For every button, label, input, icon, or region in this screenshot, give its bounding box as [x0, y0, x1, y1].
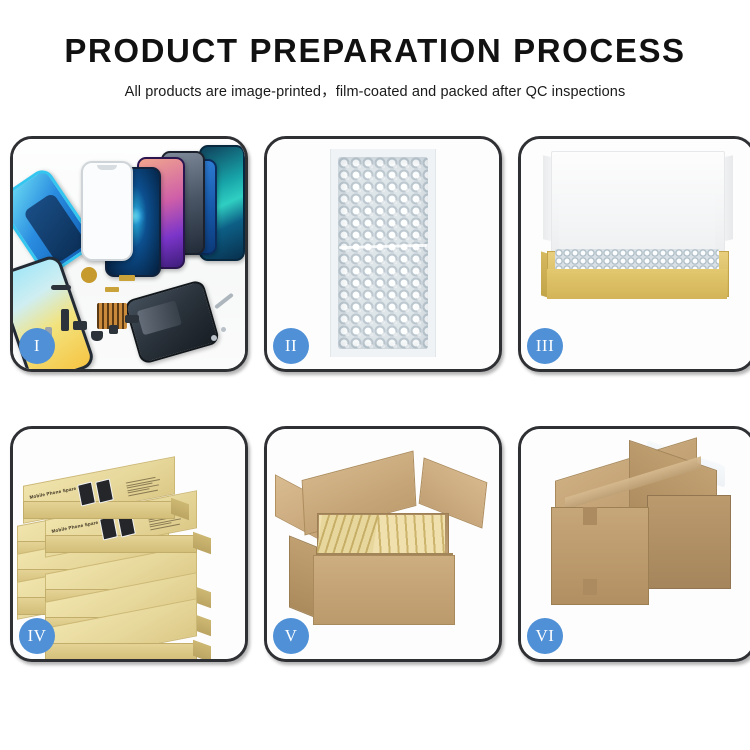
- mailer-front-panel: [547, 269, 727, 299]
- step-badge-4: IV: [19, 618, 55, 654]
- flex-cable-icon: [119, 275, 135, 281]
- sim-tray-icon: [109, 325, 118, 334]
- box-front: [45, 535, 197, 553]
- box-front: [45, 643, 197, 659]
- carton-right-face: [647, 495, 731, 589]
- carton-flap-tab: [583, 507, 597, 525]
- process-step-5: V: [264, 426, 502, 662]
- product-preparation-process-page: PRODUCT PREPARATION PROCESS All products…: [0, 0, 750, 750]
- taptic-engine-icon: [91, 331, 103, 341]
- process-step-2: II: [264, 136, 502, 372]
- retail-box-stack: Mobile Phone Spare Parts Mobile P: [17, 447, 241, 647]
- step-badge-6: VI: [527, 618, 563, 654]
- flex-cable-icon: [105, 287, 119, 292]
- box-side: [193, 640, 211, 659]
- camera-module-icon: [73, 321, 87, 330]
- page-title: PRODUCT PREPARATION PROCESS: [0, 34, 750, 69]
- carton-front-face: [551, 507, 649, 605]
- process-step-grid: I II III: [10, 136, 740, 656]
- box-front: [23, 501, 175, 519]
- glass-protector-icon: [81, 161, 133, 261]
- step-badge-3: III: [527, 328, 563, 364]
- carton-flap-tab: [583, 579, 597, 595]
- carton-front-face: [313, 555, 455, 625]
- power-flex-icon: [61, 309, 69, 331]
- step-badge-1: I: [19, 328, 55, 364]
- page-subtitle: All products are image-printed，film-coat…: [0, 80, 750, 101]
- mailer-inner-wall: [559, 195, 715, 257]
- vibrator-icon: [125, 315, 139, 323]
- process-step-3: III: [518, 136, 750, 372]
- bubble-wrap-icon: [338, 157, 428, 349]
- process-step-1: I: [10, 136, 248, 372]
- screw-icon: [211, 335, 217, 341]
- speaker-icon: [81, 267, 97, 283]
- header: PRODUCT PREPARATION PROCESS All products…: [0, 0, 750, 101]
- step-badge-2: II: [273, 328, 309, 364]
- screw-icon: [221, 327, 226, 332]
- notch-icon: [97, 165, 117, 170]
- bubble-wrap-pouch: [330, 149, 436, 357]
- earpiece-mesh-icon: [51, 285, 71, 290]
- process-step-4: Mobile Phone Spare Parts Mobile P: [10, 426, 248, 662]
- step-badge-5: V: [273, 618, 309, 654]
- process-step-6: VI: [518, 426, 750, 662]
